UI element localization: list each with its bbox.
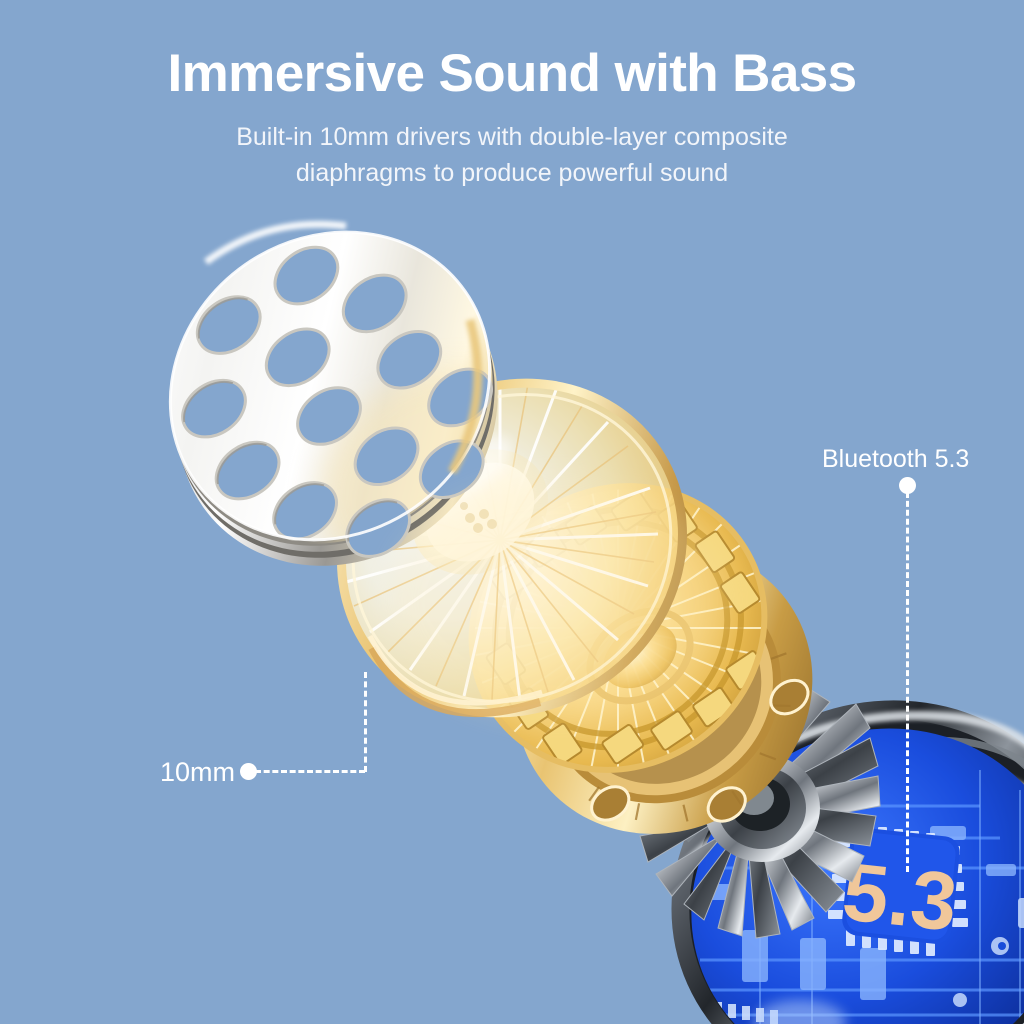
subtitle-line-2: diaphragms to produce powerful sound <box>0 156 1024 192</box>
callout-label-bluetooth: Bluetooth 5.3 <box>822 445 969 474</box>
product-marketing-image: 5.3 <box>0 0 1024 1024</box>
callout-leader-bluetooth <box>906 492 909 872</box>
callout-leader-driver-size-horizontal <box>255 770 365 773</box>
page-title: Immersive Sound with Bass <box>0 46 1024 102</box>
callout-label-driver-size: 10mm <box>160 757 235 788</box>
callout-leader-driver-size-vertical <box>364 672 367 772</box>
page-subtitle: Built-in 10mm drivers with double-layer … <box>0 120 1024 191</box>
subtitle-line-1: Built-in 10mm drivers with double-layer … <box>0 120 1024 156</box>
chip-badge-5-3: 5.3 <box>828 824 968 956</box>
